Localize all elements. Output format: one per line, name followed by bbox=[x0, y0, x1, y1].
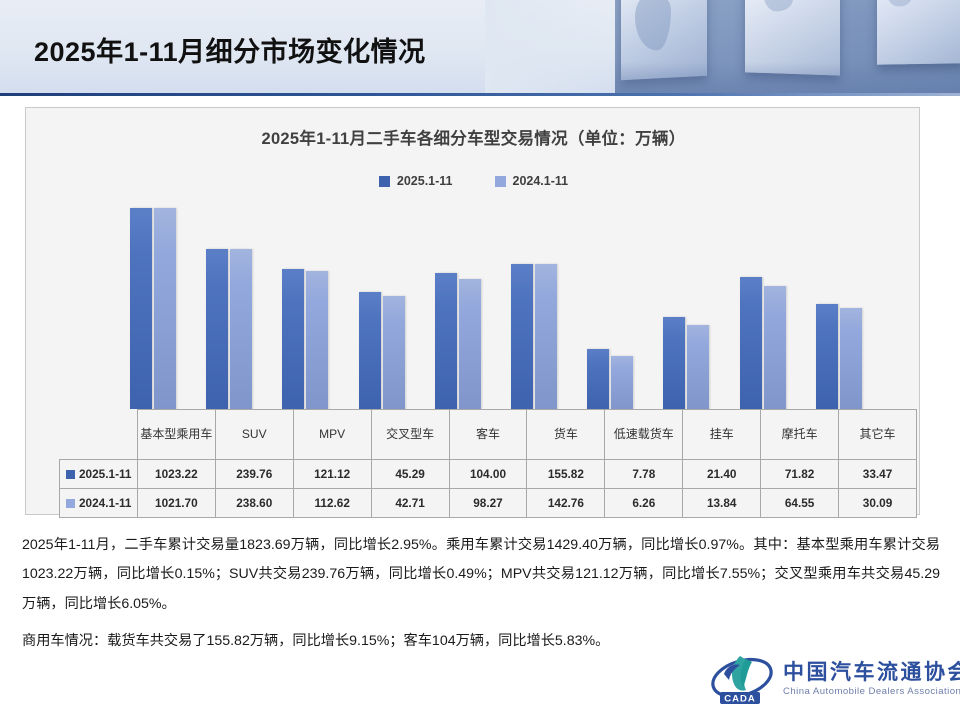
bar-group bbox=[206, 249, 252, 410]
bar-group bbox=[587, 349, 633, 410]
table-cell: 121.12 bbox=[293, 460, 371, 489]
bar-2024 bbox=[611, 356, 633, 410]
table-column-header: 其它车 bbox=[839, 410, 917, 460]
bar-2025 bbox=[130, 208, 152, 410]
bar-group bbox=[740, 277, 786, 410]
bar-2025 bbox=[206, 249, 228, 410]
bar-2025 bbox=[740, 277, 762, 410]
series-swatch-icon bbox=[66, 499, 75, 508]
table-cell: 71.82 bbox=[761, 460, 839, 489]
bar-2025 bbox=[587, 349, 609, 410]
page-header: 2025年1-11月细分市场变化情况 bbox=[0, 0, 960, 96]
header-divider bbox=[0, 93, 960, 96]
bar-group bbox=[511, 264, 557, 410]
bar-2025 bbox=[663, 317, 685, 410]
bar-2024 bbox=[459, 279, 481, 410]
bar-2024 bbox=[306, 271, 328, 410]
chart-panel: 2025年1-11月二手车各细分车型交易情况（单位：万辆） 2025.1-11 … bbox=[25, 107, 920, 515]
table-cell: 98.27 bbox=[449, 489, 527, 518]
decorative-floor bbox=[615, 62, 960, 96]
table-cell: 155.82 bbox=[527, 460, 605, 489]
bar-group bbox=[130, 208, 176, 410]
bar-2024 bbox=[687, 325, 709, 410]
table-row-label: 2025.1-11 bbox=[60, 460, 138, 489]
header-gradient-fade bbox=[485, 0, 615, 96]
table-cell: 21.40 bbox=[683, 460, 761, 489]
bar-2024 bbox=[230, 249, 252, 410]
page-title: 2025年1-11月细分市场变化情况 bbox=[34, 30, 426, 69]
table-column-header: MPV bbox=[293, 410, 371, 460]
table-column-header: 挂车 bbox=[683, 410, 761, 460]
bar-2025 bbox=[816, 304, 838, 410]
table-cell: 13.84 bbox=[683, 489, 761, 518]
table-cell: 42.71 bbox=[371, 489, 449, 518]
table-column-header: 低速载货车 bbox=[605, 410, 683, 460]
table-cell: 1023.22 bbox=[137, 460, 215, 489]
table-header-row: 基本型乘用车SUVMPV交叉型车客车货车低速载货车挂车摩托车其它车 bbox=[60, 410, 917, 460]
bar-2025 bbox=[359, 292, 381, 410]
table-cell: 112.62 bbox=[293, 489, 371, 518]
cada-logo-icon: CADA bbox=[710, 652, 774, 706]
bar-group bbox=[435, 273, 481, 410]
table-corner-cell bbox=[60, 410, 138, 460]
table-column-header: 摩托车 bbox=[761, 410, 839, 460]
table-cell: 6.26 bbox=[605, 489, 683, 518]
bar-group bbox=[663, 317, 709, 410]
table-cell: 64.55 bbox=[761, 489, 839, 518]
table-cell: 7.78 bbox=[605, 460, 683, 489]
cada-logo-en: China Automobile Dealers Association bbox=[783, 686, 960, 697]
table-cell: 142.76 bbox=[527, 489, 605, 518]
bar-2024 bbox=[383, 296, 405, 410]
bar-group bbox=[816, 304, 862, 410]
bar-2024 bbox=[840, 308, 862, 410]
bar-2025 bbox=[511, 264, 533, 410]
svg-text:CADA: CADA bbox=[724, 694, 755, 705]
table-cell: 45.29 bbox=[371, 460, 449, 489]
decorative-cube bbox=[877, 0, 960, 65]
bar-group bbox=[359, 292, 405, 410]
series-swatch-icon bbox=[66, 470, 75, 479]
table-column-header: 客车 bbox=[449, 410, 527, 460]
table-column-header: SUV bbox=[215, 410, 293, 460]
bar-group bbox=[282, 269, 328, 410]
table-row-label: 2024.1-11 bbox=[60, 489, 138, 518]
bar-2024 bbox=[154, 208, 176, 410]
table-cell: 104.00 bbox=[449, 460, 527, 489]
table-column-header: 交叉型车 bbox=[371, 410, 449, 460]
table-row: 2025.1-111023.22239.76121.1245.29104.001… bbox=[60, 460, 917, 489]
bar-2024 bbox=[764, 286, 786, 410]
cada-logo: CADA 中国汽车流通协会 China Automobile Dealers A… bbox=[710, 648, 942, 710]
cada-logo-cn: 中国汽车流通协会 bbox=[783, 661, 960, 685]
body-paragraph-1: 2025年1-11月，二手车累计交易量1823.69万辆，同比增长2.95%。乘… bbox=[22, 531, 940, 619]
table-row: 2024.1-111021.70238.60112.6242.7198.2714… bbox=[60, 489, 917, 518]
cada-logo-text: 中国汽车流通协会 China Automobile Dealers Associ… bbox=[783, 661, 960, 698]
header-decoration-image bbox=[615, 0, 960, 96]
table-column-header: 货车 bbox=[527, 410, 605, 460]
table-cell: 239.76 bbox=[215, 460, 293, 489]
body-text: 2025年1-11月，二手车累计交易量1823.69万辆，同比增长2.95%。乘… bbox=[22, 531, 940, 664]
table-column-header: 基本型乘用车 bbox=[137, 410, 215, 460]
chart-data-table: 基本型乘用车SUVMPV交叉型车客车货车低速载货车挂车摩托车其它车2025.1-… bbox=[59, 409, 917, 518]
table-cell: 33.47 bbox=[839, 460, 917, 489]
table-cell: 1021.70 bbox=[137, 489, 215, 518]
bar-2024 bbox=[535, 264, 557, 410]
bar-2025 bbox=[282, 269, 304, 410]
bar-2025 bbox=[435, 273, 457, 410]
table-cell: 238.60 bbox=[215, 489, 293, 518]
table-cell: 30.09 bbox=[839, 489, 917, 518]
